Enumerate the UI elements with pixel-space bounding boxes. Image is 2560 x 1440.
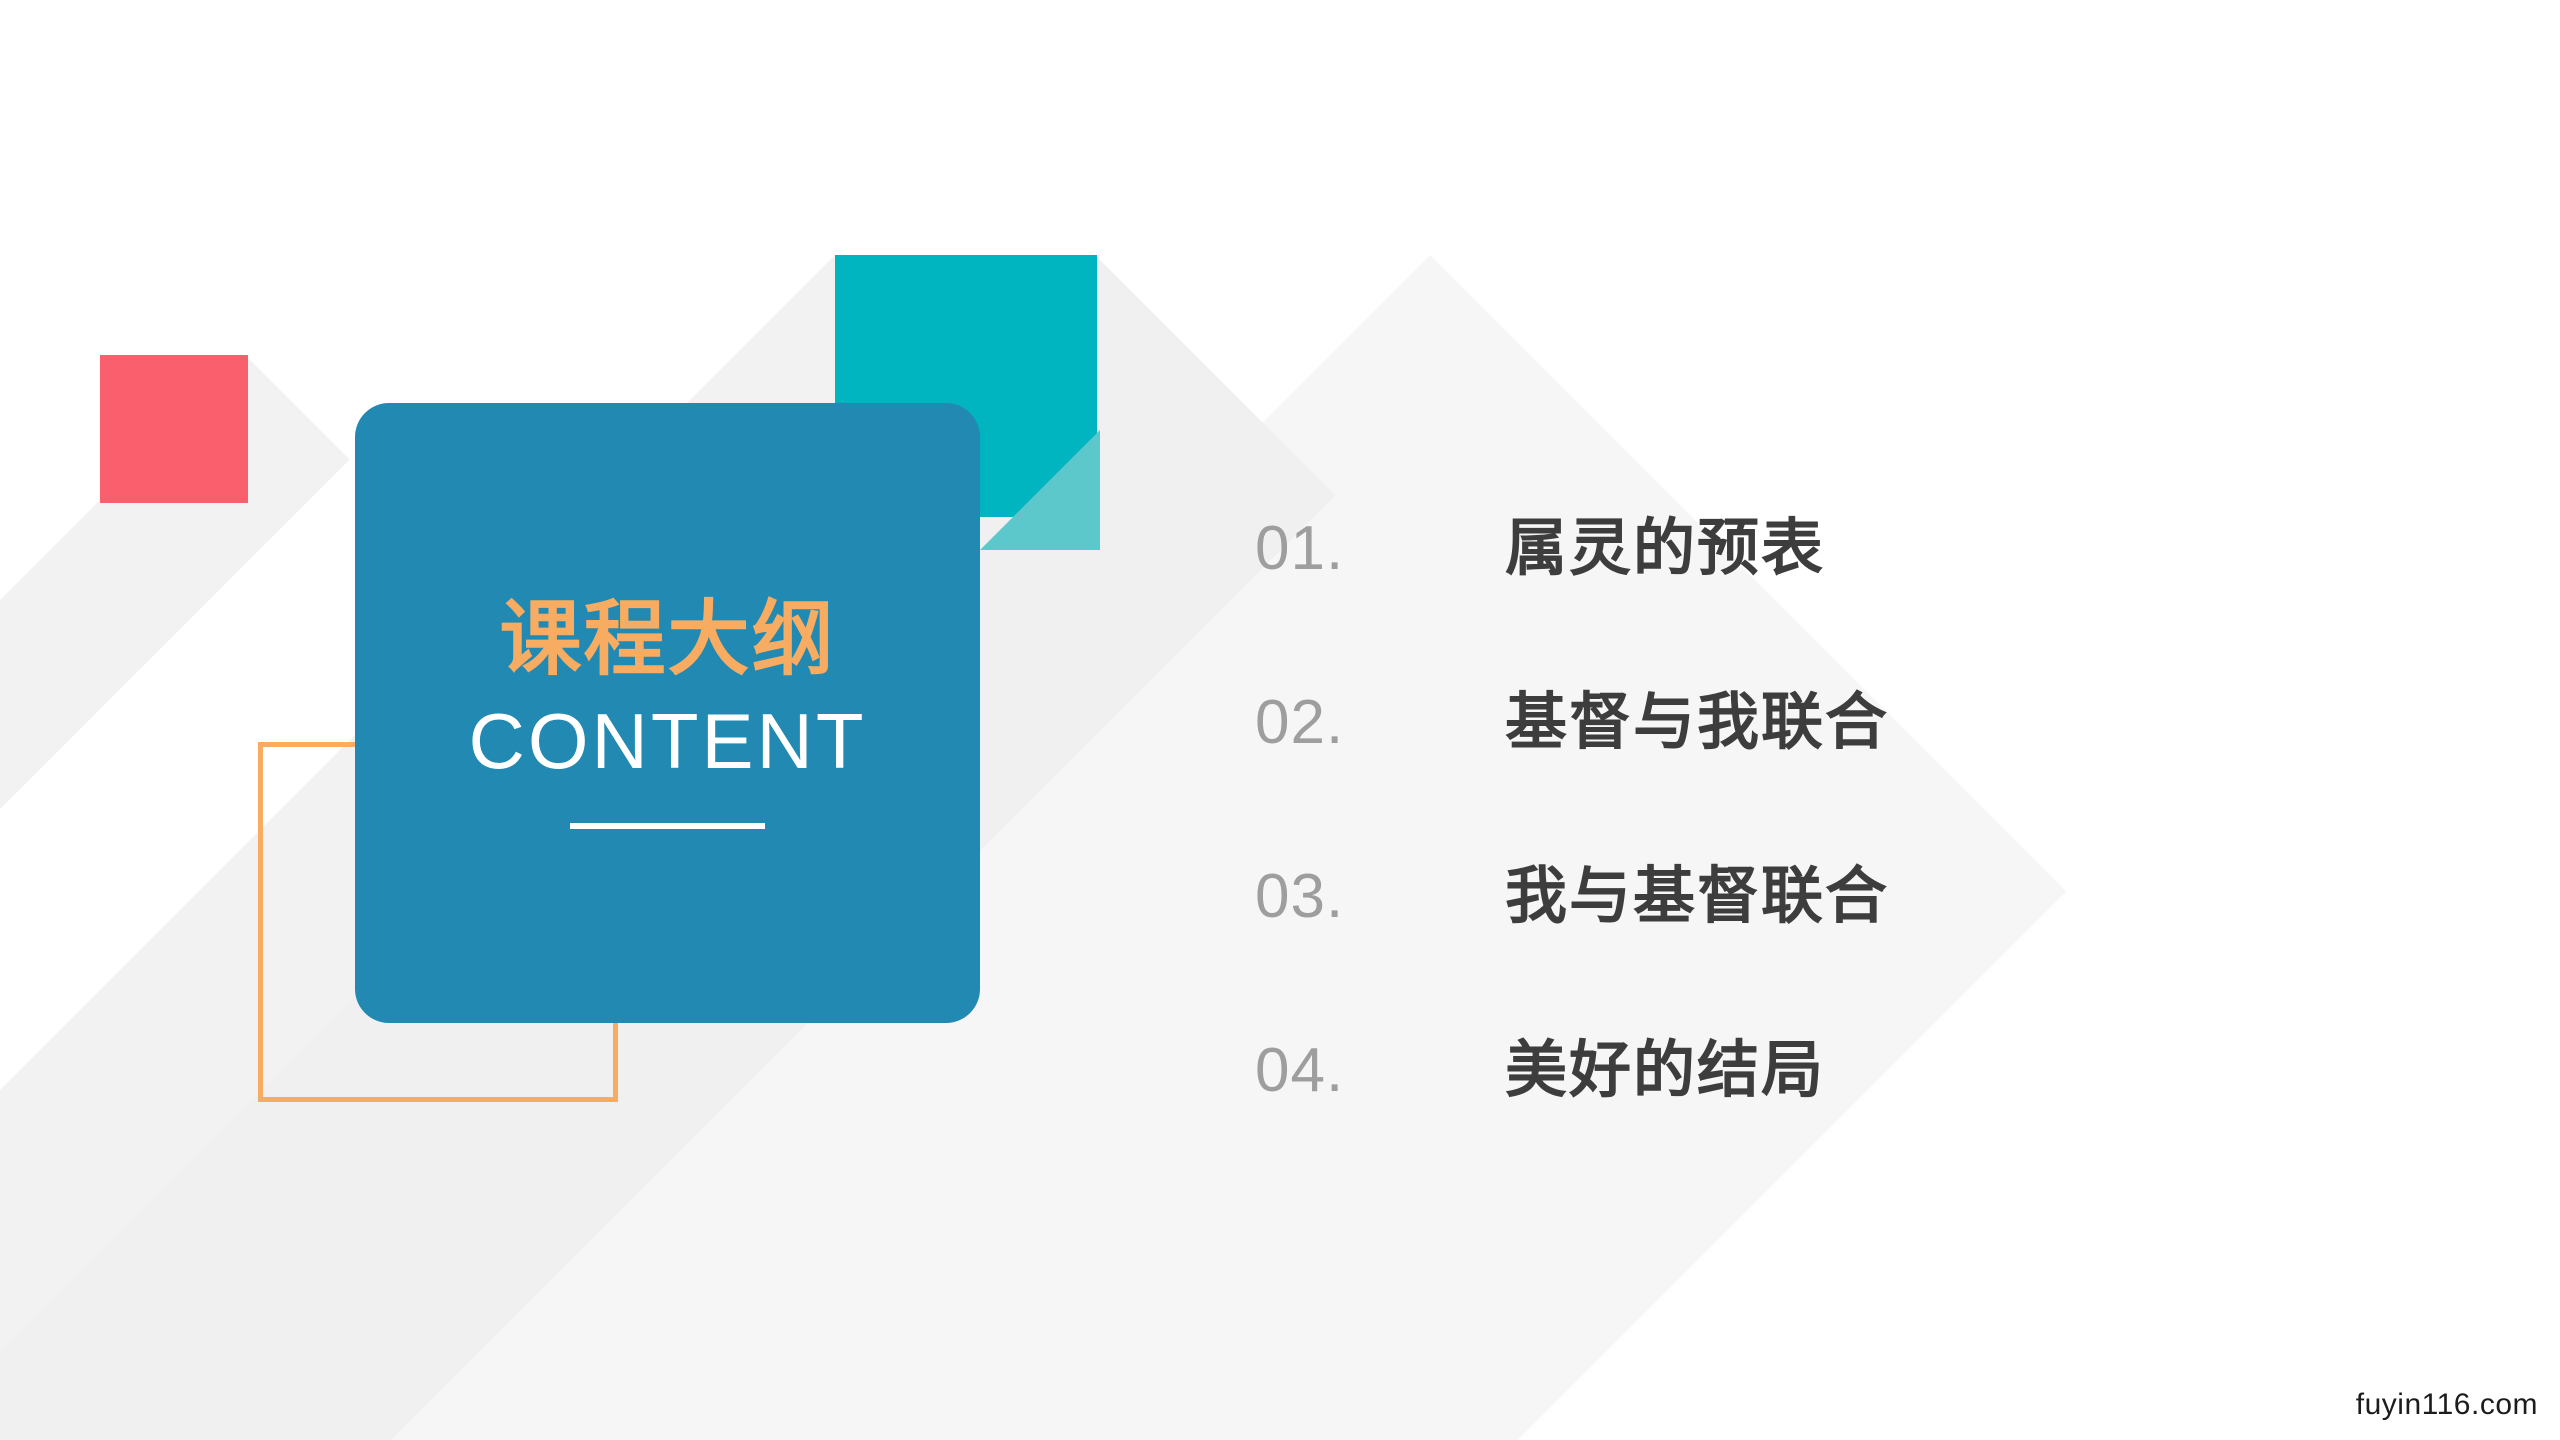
outline-list: 01. 属灵的预表 02. 基督与我联合 03. 我与基督联合 04. 美好的结…: [1255, 462, 2355, 1158]
list-item-label: 属灵的预表: [1505, 518, 1825, 580]
card-title-chinese: 课程大纲: [499, 597, 835, 683]
list-item[interactable]: 04. 美好的结局: [1255, 984, 2355, 1158]
list-item-label: 基督与我联合: [1505, 692, 1889, 754]
list-item-number: 04.: [1255, 1040, 1505, 1102]
list-item[interactable]: 03. 我与基督联合: [1255, 810, 2355, 984]
slide-canvas: 课程大纲 CONTENT 01. 属灵的预表 02. 基督与我联合 03. 我与…: [0, 0, 2560, 1440]
red-square-decoration: [100, 355, 248, 503]
list-item[interactable]: 01. 属灵的预表: [1255, 462, 2355, 636]
list-item-number: 02.: [1255, 692, 1505, 754]
card-title-english: CONTENT: [469, 701, 867, 783]
list-item[interactable]: 02. 基督与我联合: [1255, 636, 2355, 810]
list-item-number: 03.: [1255, 866, 1505, 928]
list-item-label: 我与基督联合: [1505, 866, 1889, 928]
card-title-underline: [570, 823, 765, 829]
content-title-card: 课程大纲 CONTENT: [355, 403, 980, 1023]
list-item-number: 01.: [1255, 518, 1505, 580]
list-item-label: 美好的结局: [1505, 1040, 1825, 1102]
teal-triangle-shadow: [980, 430, 1100, 550]
site-watermark: fuyin116.com: [2356, 1388, 2538, 1422]
